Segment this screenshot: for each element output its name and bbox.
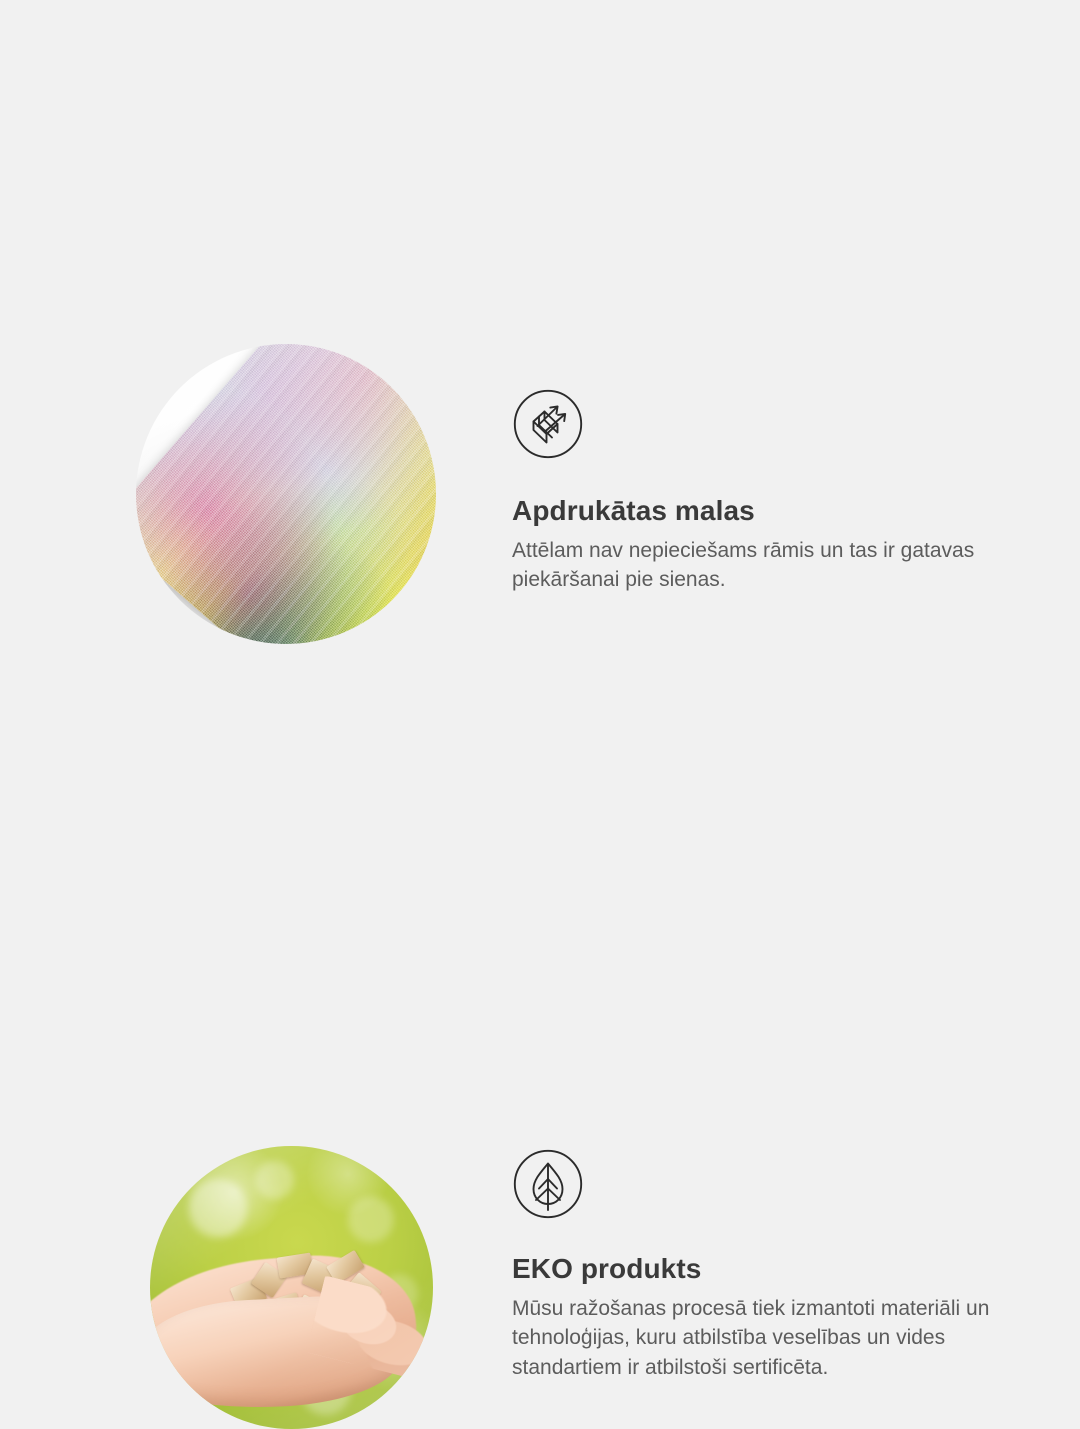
printed-edges-icon [512, 388, 584, 460]
feature-title: EKO produkts [512, 1220, 1024, 1286]
eco-image [150, 1146, 433, 1429]
photo-sheen [150, 1146, 433, 1429]
feature-printed-edges: Apdrukātas malas Attēlam nav nepieciešam… [0, 160, 1080, 520]
feature-panel: Apdrukātas malas Attēlam nav nepieciešam… [0, 0, 1080, 1080]
feature-eco: EKO produkts Mūsu ražošanas procesā tiek… [0, 560, 1080, 920]
feature-description: Mūsu ražošanas procesā tiek izmantoti ma… [512, 1294, 990, 1383]
feature-title: Apdrukātas malas [512, 460, 1024, 528]
eco-copy: EKO produkts Mūsu ražošanas procesā tiek… [512, 1148, 1024, 1383]
leaf-icon [512, 1148, 584, 1220]
